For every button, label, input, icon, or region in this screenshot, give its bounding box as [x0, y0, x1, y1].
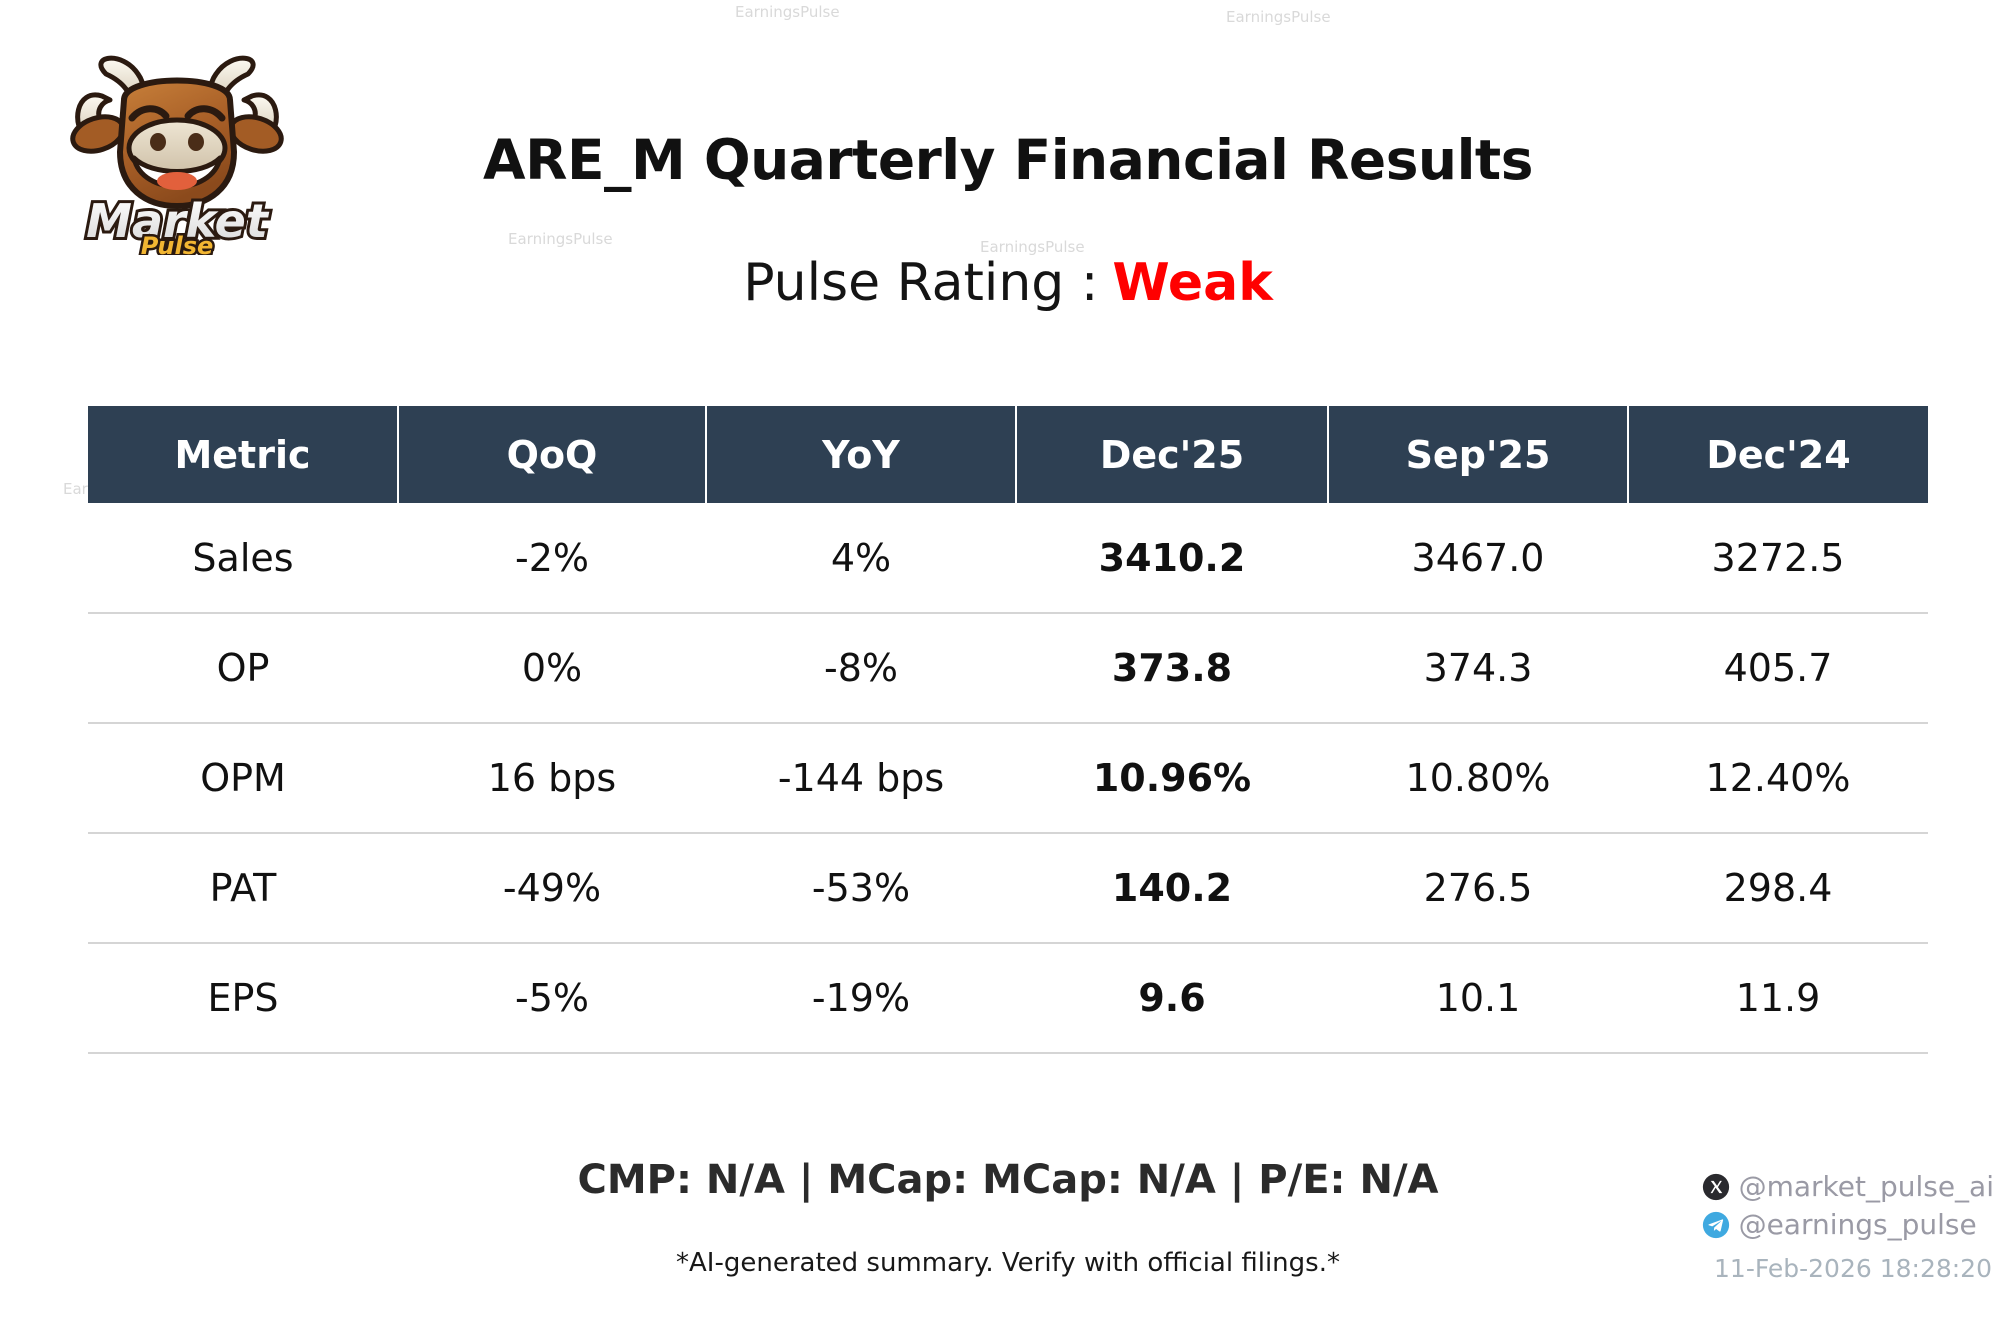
- column-header-metric: Metric: [88, 406, 398, 503]
- cell-yoy: -53%: [706, 833, 1016, 943]
- table-row: OP0%-8%373.8374.3405.7: [88, 613, 1928, 723]
- pulse-rating-label: Pulse Rating :: [743, 253, 1098, 313]
- watermark-text: EarningsPulse: [1226, 8, 1331, 26]
- cell-yoy: -8%: [706, 613, 1016, 723]
- social-row-telegram[interactable]: @earnings_pulse: [1702, 1206, 1994, 1244]
- cell-dec25: 373.8: [1016, 613, 1328, 723]
- cell-qoq: -49%: [398, 833, 706, 943]
- social-row-x[interactable]: @market_pulse_ai: [1702, 1168, 1994, 1206]
- cell-sep25: 3467.0: [1328, 503, 1628, 613]
- column-header-sep25: Sep'25: [1328, 406, 1628, 503]
- cell-metric: EPS: [88, 943, 398, 1053]
- cell-dec24: 11.9: [1628, 943, 1928, 1053]
- x-twitter-icon[interactable]: [1702, 1173, 1730, 1201]
- pulse-rating-line: Pulse Rating :Weak: [0, 253, 2016, 313]
- cell-dec25: 140.2: [1016, 833, 1328, 943]
- cell-yoy: 4%: [706, 503, 1016, 613]
- cell-yoy: -19%: [706, 943, 1016, 1053]
- telegram-handle[interactable]: @earnings_pulse: [1739, 1211, 1977, 1239]
- generated-timestamp: 11-Feb-2026 18:28:20: [1714, 1254, 1992, 1283]
- table-row: EPS-5%-19%9.610.111.9: [88, 943, 1928, 1053]
- cell-metric: OP: [88, 613, 398, 723]
- cell-metric: PAT: [88, 833, 398, 943]
- table-row: Sales-2%4%3410.23467.03272.5: [88, 503, 1928, 613]
- column-header-dec25: Dec'25: [1016, 406, 1328, 503]
- watermark-text: EarningsPulse: [735, 3, 840, 21]
- table-body: Sales-2%4%3410.23467.03272.5OP0%-8%373.8…: [88, 503, 1928, 1053]
- cell-dec24: 405.7: [1628, 613, 1928, 723]
- cell-dec25: 3410.2: [1016, 503, 1328, 613]
- social-handles: @market_pulse_ai @earnings_pulse: [1702, 1168, 1994, 1244]
- watermark-text: EarningsPulse: [508, 230, 613, 248]
- page-title: ARE_M Quarterly Financial Results: [0, 128, 2016, 192]
- cell-metric: Sales: [88, 503, 398, 613]
- cell-dec24: 298.4: [1628, 833, 1928, 943]
- cell-qoq: -5%: [398, 943, 706, 1053]
- cell-sep25: 374.3: [1328, 613, 1628, 723]
- pulse-rating-value: Weak: [1112, 253, 1272, 313]
- cell-sep25: 276.5: [1328, 833, 1628, 943]
- cell-metric: OPM: [88, 723, 398, 833]
- cell-qoq: 16 bps: [398, 723, 706, 833]
- telegram-icon[interactable]: [1702, 1211, 1730, 1239]
- cell-dec25: 9.6: [1016, 943, 1328, 1053]
- table-row: PAT-49%-53%140.2276.5298.4: [88, 833, 1928, 943]
- column-header-qoq: QoQ: [398, 406, 706, 503]
- cell-dec25: 10.96%: [1016, 723, 1328, 833]
- cell-sep25: 10.80%: [1328, 723, 1628, 833]
- cell-sep25: 10.1: [1328, 943, 1628, 1053]
- logo-wordmark-pulse: Pulse: [141, 232, 214, 255]
- table-row: OPM16 bps-144 bps10.96%10.80%12.40%: [88, 723, 1928, 833]
- cell-qoq: 0%: [398, 613, 706, 723]
- table-header-row: Metric QoQ YoY Dec'25 Sep'25 Dec'24: [88, 406, 1928, 503]
- cell-qoq: -2%: [398, 503, 706, 613]
- cell-dec24: 3272.5: [1628, 503, 1928, 613]
- column-header-dec24: Dec'24: [1628, 406, 1928, 503]
- quarterly-results-table: Metric QoQ YoY Dec'25 Sep'25 Dec'24 Sale…: [88, 406, 1928, 1054]
- cell-dec24: 12.40%: [1628, 723, 1928, 833]
- x-handle[interactable]: @market_pulse_ai: [1739, 1173, 1994, 1201]
- column-header-yoy: YoY: [706, 406, 1016, 503]
- cell-yoy: -144 bps: [706, 723, 1016, 833]
